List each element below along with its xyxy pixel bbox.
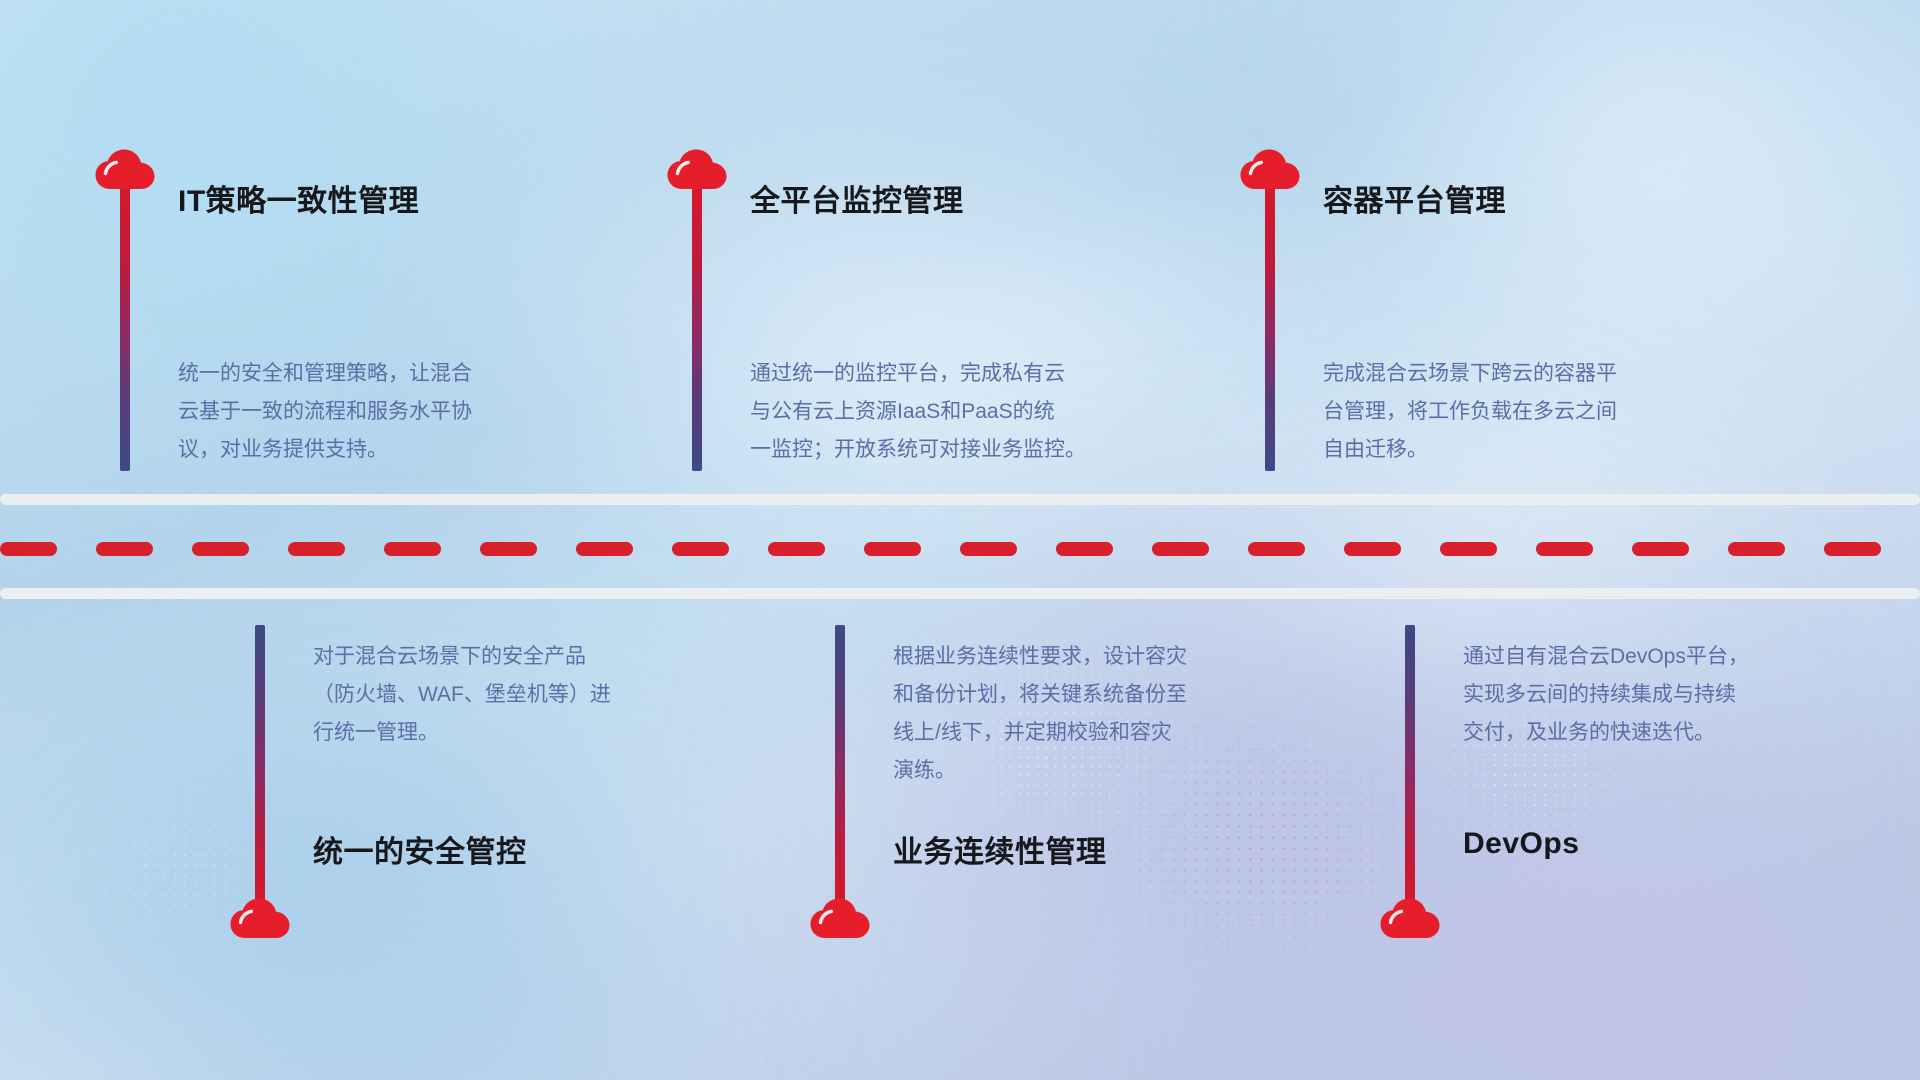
road-dash xyxy=(0,542,57,556)
road-line-bottom xyxy=(0,588,1920,599)
road-dash xyxy=(192,542,249,556)
road-dash xyxy=(1152,542,1209,556)
item-description-bottom-1: 对于混合云场景下的安全产品 （防火墙、WAF、堡垒机等）进 行统一管理。 xyxy=(313,638,743,752)
infographic-canvas: IT策略一致性管理 统一的安全和管理策略，让混合 云基于一致的流程和服务水平协 … xyxy=(0,0,1920,1080)
road-dash xyxy=(384,542,441,556)
pin-stem xyxy=(255,625,265,910)
road-dash xyxy=(288,542,345,556)
road-dash xyxy=(1824,542,1881,556)
cloud-icon xyxy=(809,897,871,941)
road-line-top xyxy=(0,494,1920,505)
cloud-icon xyxy=(666,148,728,192)
item-description-top-3: 完成混合云场景下跨云的容器平 台管理，将工作负载在多云之间 自由迁移。 xyxy=(1323,355,1763,469)
road-dash xyxy=(768,542,825,556)
item-description-top-2: 通过统一的监控平台，完成私有云 与公有云上资源IaaS和PaaS的统 一监控；开… xyxy=(750,355,1220,469)
road-dash xyxy=(864,542,921,556)
item-title-top-2: 全平台监控管理 xyxy=(750,176,964,220)
pin-stem xyxy=(835,625,845,910)
road-dash xyxy=(1248,542,1305,556)
item-description-bottom-3: 通过自有混合云DevOps平台， 实现多云间的持续集成与持续 交付，及业务的快速… xyxy=(1463,638,1893,752)
cloud-icon xyxy=(1239,148,1301,192)
road-dash-row xyxy=(0,542,1920,556)
pin-stem xyxy=(692,186,702,471)
road-dash xyxy=(96,542,153,556)
pin-stem xyxy=(1265,186,1275,471)
pin-stem xyxy=(1405,625,1415,910)
road-dash xyxy=(1728,542,1785,556)
item-title-bottom-2: 业务连续性管理 xyxy=(893,827,1107,871)
item-title-bottom-1: 统一的安全管控 xyxy=(313,827,527,871)
item-description-bottom-2: 根据业务连续性要求，设计容灾 和备份计划，将关键系统备份至 线上/线下，并定期校… xyxy=(893,638,1323,790)
cloud-icon xyxy=(94,148,156,192)
road-dash xyxy=(1440,542,1497,556)
item-title-top-1: IT策略一致性管理 xyxy=(178,176,419,220)
item-description-top-1: 统一的安全和管理策略，让混合 云基于一致的流程和服务水平协 议，对业务提供支持。 xyxy=(178,355,618,469)
road-dash xyxy=(576,542,633,556)
cloud-icon xyxy=(229,897,291,941)
road-dash xyxy=(1632,542,1689,556)
item-title-top-3: 容器平台管理 xyxy=(1323,176,1506,220)
road-dash xyxy=(480,542,537,556)
road-dash xyxy=(1056,542,1113,556)
item-title-bottom-3: DevOps xyxy=(1463,827,1579,861)
road-dash xyxy=(1344,542,1401,556)
road-dash xyxy=(960,542,1017,556)
road-dash xyxy=(672,542,729,556)
pin-stem xyxy=(120,186,130,471)
cloud-icon xyxy=(1379,897,1441,941)
road-dash xyxy=(1536,542,1593,556)
